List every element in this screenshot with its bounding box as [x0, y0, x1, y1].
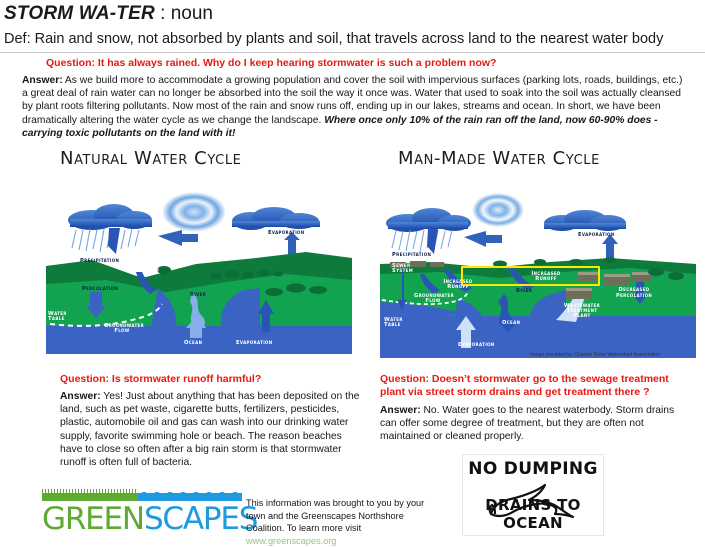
greenscapes-url-link[interactable]: www.greenscapes.org	[246, 536, 336, 546]
right-question: Question: Doesn’t stormwater go to the s…	[380, 373, 685, 399]
label-percolation-left: Percolation	[82, 286, 118, 292]
top-question: Question: It has always rained. Why do I…	[46, 57, 686, 70]
grass-bar-icon	[42, 493, 138, 501]
wave-bar-icon	[138, 493, 242, 501]
label-ocean-left: Ocean	[184, 340, 202, 346]
label-river-left: River	[190, 292, 206, 298]
page-root: STORM WA-TER : noun Def: Rain and snow, …	[0, 0, 705, 538]
label-groundwater-flow-right: Groundwater Flow	[414, 294, 452, 304]
top-answer-label: Answer:	[22, 75, 63, 86]
term-text: STORM WA-TER	[4, 3, 155, 24]
label-evaporation-sky-right: Evaporation	[578, 232, 614, 238]
footer-info-text: This information was brought to you by y…	[246, 497, 442, 547]
image-credit: Image provided by Charles River Watershe…	[530, 352, 700, 358]
natural-water-cycle-diagram: Precipitation Evaporation Runoff Percola…	[46, 188, 352, 354]
natural-cycle-title: Natural Water Cycle	[60, 148, 242, 170]
label-river-right: River	[516, 288, 532, 294]
manmade-cycle-title: Man-Made Water Cycle	[398, 148, 600, 170]
no-dumping-line2: DRAINS TO OCEAN	[463, 496, 603, 532]
greenscapes-wordmark: GREENSCAPES	[42, 501, 257, 537]
left-answer: Answer: Yes! Just about anything that ha…	[60, 390, 365, 469]
header-divider	[0, 52, 705, 53]
label-ocean-right: Ocean	[502, 320, 520, 326]
no-dumping-sign: NO DUMPING DRAINS TO OCEAN	[462, 454, 604, 536]
label-precipitation-left: Precipitation	[80, 258, 119, 264]
increased-runoff-highlight-box	[461, 266, 600, 286]
label-wastewater-treatment-plant: Wastewater Treatment Plant	[562, 304, 602, 319]
label-precipitation-right: Precipitation	[392, 252, 431, 258]
right-answer-label: Answer:	[380, 405, 421, 416]
label-decreased-percolation: Decreased Percolation	[606, 288, 662, 299]
label-runoff-left: Runoff	[138, 268, 160, 274]
footer-text-body: This information was brought to you by y…	[246, 498, 424, 533]
label-evaporation-ground-left: Evaporation	[236, 340, 272, 346]
natural-cycle-graphic	[46, 188, 352, 354]
left-answer-body: Yes! Just about anything that has been d…	[60, 391, 359, 468]
right-answer: Answer: No. Water goes to the nearest wa…	[380, 404, 685, 444]
greenscapes-logo: GREENSCAPES	[42, 489, 242, 535]
label-evaporation-ground-right: Evaporation	[458, 342, 494, 348]
label-sewer-system-right: Sewer System	[392, 264, 412, 274]
label-water-table-left: Water Table	[48, 312, 68, 322]
logo-green-text: GREEN	[42, 501, 144, 537]
page-title: STORM WA-TER : noun	[4, 2, 213, 26]
top-answer: Answer: As we build more to accommodate …	[22, 74, 687, 140]
left-answer-label: Answer:	[60, 391, 101, 402]
label-groundwater-flow-left: Groundwater Flow	[104, 324, 140, 334]
logo-blue-text: SCAPES	[144, 501, 257, 537]
right-answer-body: No. Water goes to the nearest waterbody.…	[380, 405, 674, 442]
no-dumping-line1: NO DUMPING	[463, 459, 603, 479]
left-question: Question: Is stormwater runoff harmful?	[60, 373, 360, 386]
definition-text: Def: Rain and snow, not absorbed by plan…	[4, 30, 663, 49]
label-evaporation-sky-left: Evaporation	[268, 230, 304, 236]
label-water-table-right: Water Table	[384, 318, 404, 328]
part-of-speech-text: : noun	[155, 3, 213, 24]
